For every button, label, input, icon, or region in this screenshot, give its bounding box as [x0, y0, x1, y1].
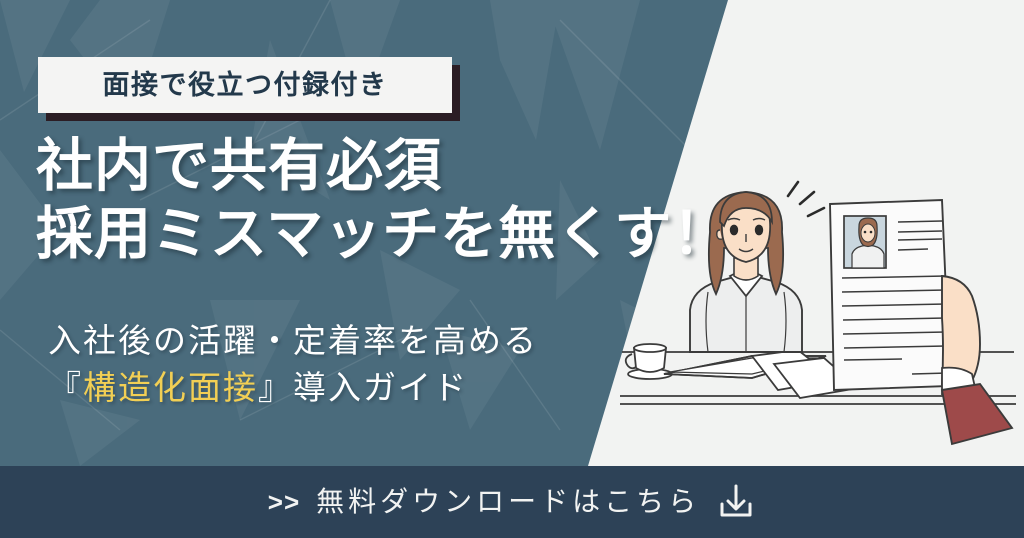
interview-scene-illustration	[612, 178, 1024, 466]
subheading-quote-open: 『	[48, 369, 83, 406]
badge: 面接で役立つ付録付き	[38, 57, 452, 113]
subheading-quote-close: 』	[258, 369, 293, 406]
subheading-line-1: 入社後の活躍・定着率を高める	[48, 318, 648, 365]
hand-holding-resume	[942, 276, 1012, 444]
subheading-line-2: 『構造化面接』導入ガイド	[48, 365, 648, 412]
subheading: 入社後の活躍・定着率を高める 『構造化面接』導入ガイド	[48, 318, 648, 412]
cta-bar[interactable]: >> 無料ダウンロードはこちら	[0, 466, 1024, 538]
download-icon[interactable]	[716, 482, 756, 522]
cta-inner[interactable]: >> 無料ダウンロードはこちら	[268, 482, 756, 522]
headline-line-2: 採用ミスマッチを無くす！	[36, 200, 676, 268]
promo-banner: 面接で役立つ付録付き 社内で共有必須 採用ミスマッチを無くす！ 入社後の活躍・定…	[0, 0, 1024, 538]
cta-chevrons: >>	[268, 489, 300, 515]
subheading-accent-term: 構造化面接	[83, 369, 258, 406]
headline-line-1: 社内で共有必須	[36, 132, 676, 200]
sleeve	[942, 384, 1012, 444]
cta-label: 無料ダウンロードはこちら	[316, 488, 700, 516]
subheading-tail: 導入ガイド	[293, 369, 468, 406]
resume-document	[830, 200, 950, 390]
headline: 社内で共有必須 採用ミスマッチを無くす！	[36, 132, 676, 269]
woman-interviewee	[690, 192, 802, 352]
badge-label: 面接で役立つ付録付き	[103, 72, 388, 99]
badge-box: 面接で役立つ付録付き	[38, 57, 452, 113]
spark-lines	[788, 182, 824, 216]
